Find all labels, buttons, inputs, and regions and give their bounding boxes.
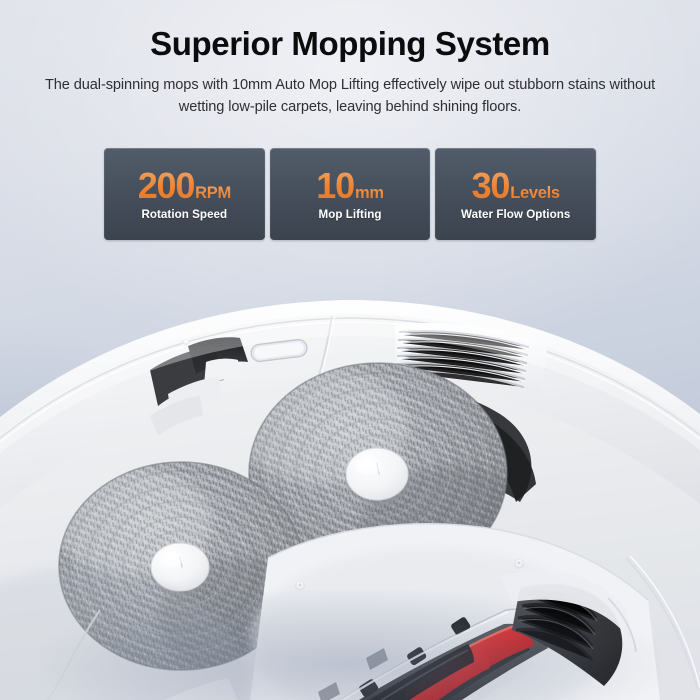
robot-vacuum-underside-illustration: buckyide bbox=[0, 258, 700, 700]
page-title: Superior Mopping System bbox=[0, 26, 700, 63]
product-feature-graphic: Superior Mopping System The dual-spinnin… bbox=[0, 0, 700, 700]
page-subtitle: The dual-spinning mops with 10mm Auto Mo… bbox=[26, 74, 674, 119]
spec-card-water-flow: 30 Levels Water Flow Options bbox=[435, 148, 596, 240]
spec-card-rotation-speed: 200 RPM Rotation Speed bbox=[104, 148, 265, 240]
spec-label: Mop Lifting bbox=[319, 209, 382, 221]
spec-label: Water Flow Options bbox=[461, 209, 570, 221]
spec-label: Rotation Speed bbox=[141, 209, 227, 221]
spec-unit: mm bbox=[355, 185, 384, 202]
spec-value: 200 RPM bbox=[138, 168, 231, 204]
spec-number: 30 bbox=[472, 168, 510, 204]
spec-unit: RPM bbox=[195, 185, 231, 202]
chassis: buckyide bbox=[0, 292, 700, 700]
spec-number: 200 bbox=[138, 168, 194, 204]
header: Superior Mopping System The dual-spinnin… bbox=[0, 26, 700, 119]
product-image: buckyide bbox=[0, 258, 700, 700]
spec-value: 10 mm bbox=[316, 168, 383, 204]
spec-value: 30 Levels bbox=[472, 168, 560, 204]
spec-number: 10 bbox=[316, 168, 354, 204]
spec-unit: Levels bbox=[510, 185, 560, 202]
spec-card-row: 200 RPM Rotation Speed 10 mm Mop Lifting… bbox=[104, 148, 596, 240]
spec-card-mop-lifting: 10 mm Mop Lifting bbox=[270, 148, 431, 240]
